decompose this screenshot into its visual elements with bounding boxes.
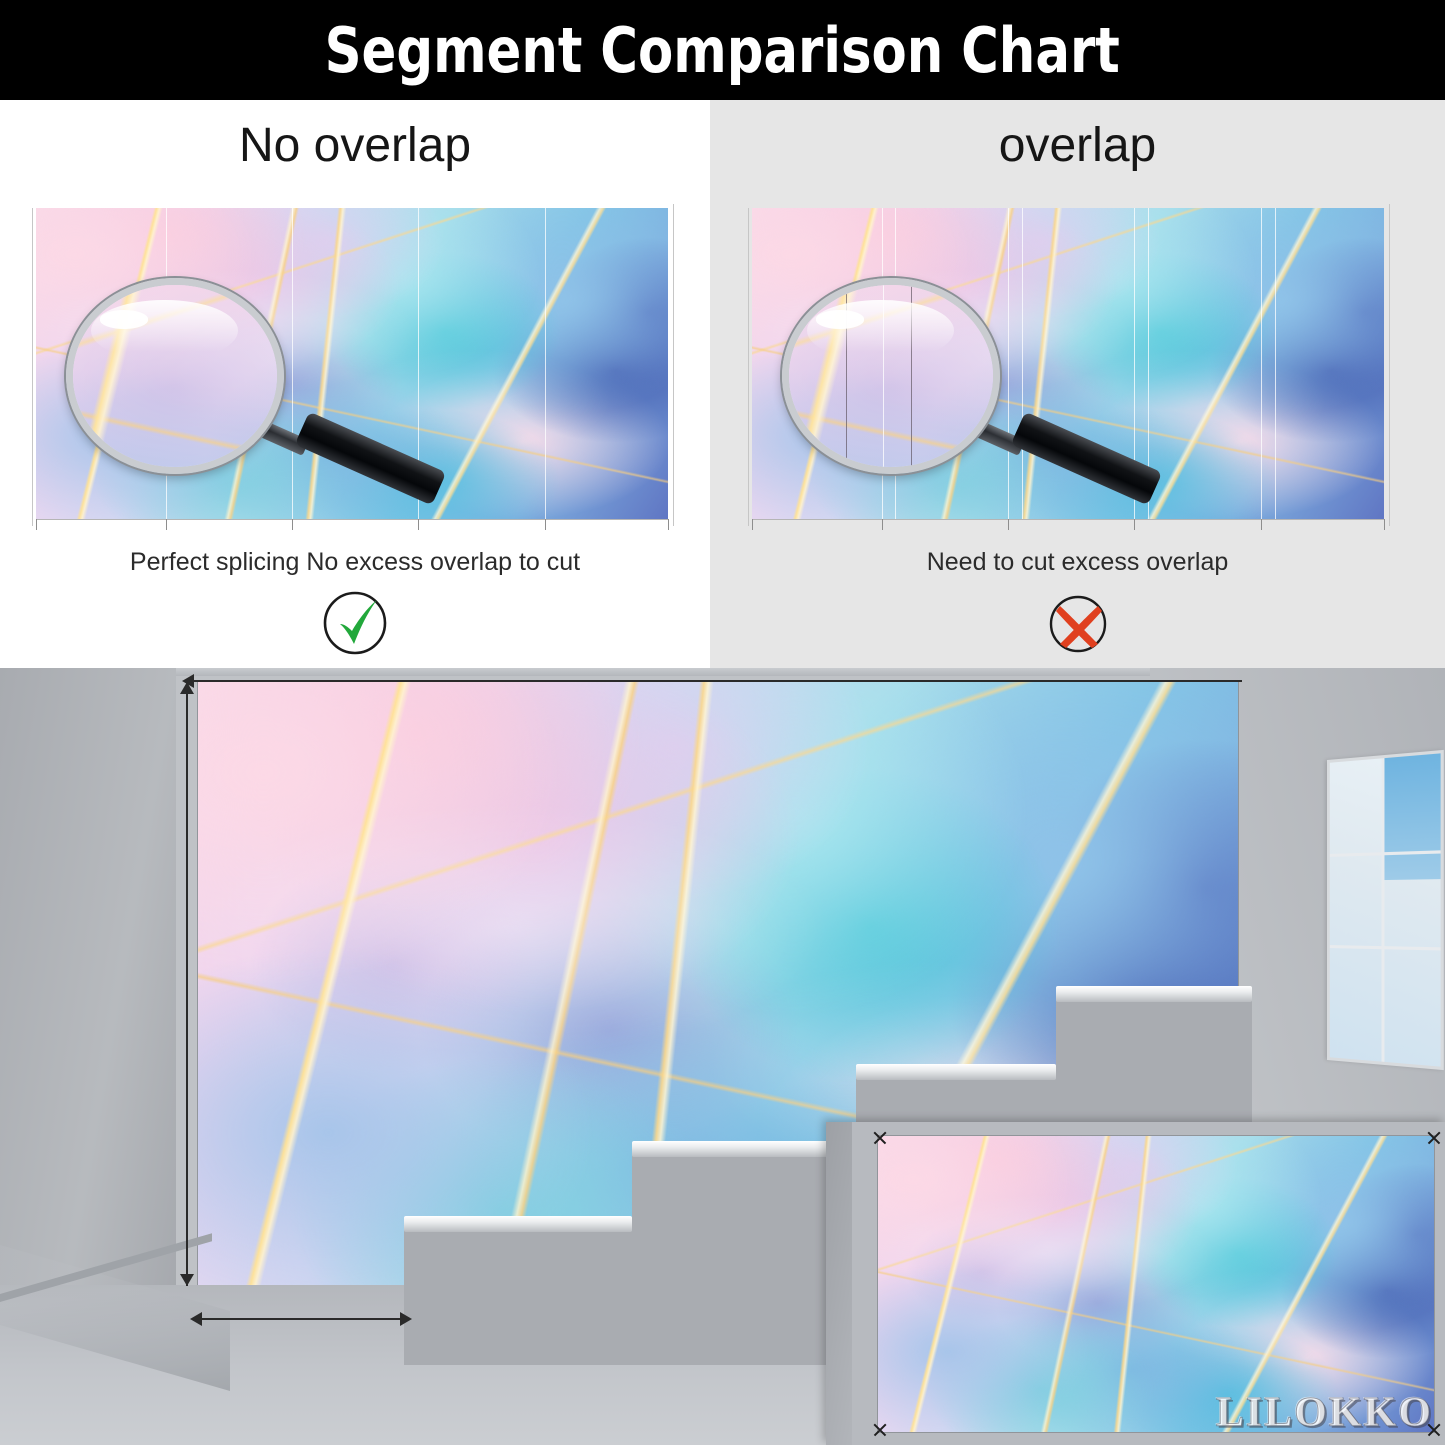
seam-line <box>1008 208 1009 520</box>
stair-step <box>404 1230 632 1365</box>
window-grid-icon <box>1327 750 1444 1070</box>
magnified-seam-line <box>911 285 912 467</box>
panel-overlap: overlap <box>710 100 1445 668</box>
red-cross-icon <box>1036 586 1120 658</box>
page-title: Segment Comparison Chart <box>325 14 1120 87</box>
inset-preview-panel: LILOKKO <box>826 1122 1445 1445</box>
room-scene: LILOKKO <box>0 668 1445 1445</box>
horizontal-dimension-arrow <box>192 1318 410 1320</box>
caption-no-overlap: Perfect splicing No excess overlap to cu… <box>0 548 710 577</box>
caption-overlap: Need to cut excess overlap <box>710 548 1445 577</box>
magnifier-lens <box>782 278 1000 474</box>
left-wall <box>0 668 176 1328</box>
top-dimension-arrow <box>186 680 1242 682</box>
seam-line-overlap <box>1275 208 1276 520</box>
corner-marker <box>1426 1130 1442 1146</box>
magnifying-glass-icon <box>66 278 284 474</box>
magnifier-gloss-highlight <box>816 310 865 328</box>
inset-mural <box>878 1136 1434 1432</box>
magnified-artwork <box>782 278 1000 474</box>
marble-highlight-veil <box>878 1136 1434 1432</box>
window-mullion-horizontal <box>1330 945 1441 950</box>
stair-step <box>632 1155 856 1365</box>
dimension-arrowhead-left <box>182 674 194 688</box>
magnified-artwork <box>66 278 284 474</box>
corner-marker <box>872 1422 888 1438</box>
stair-nosing <box>404 1216 632 1232</box>
corner-marker <box>872 1130 888 1146</box>
seam-line <box>292 208 293 520</box>
stair-nosing <box>632 1141 856 1157</box>
magnifying-glass-icon <box>782 278 1000 474</box>
stair-nosing <box>1056 986 1252 1002</box>
green-check-icon <box>313 586 397 658</box>
verdict-wrap-no-overlap <box>0 586 710 658</box>
inset-left-wall <box>826 1122 852 1445</box>
stair-nosing <box>856 1064 1056 1080</box>
seam-line <box>545 208 546 520</box>
dimension-arrowhead-down <box>180 1274 194 1286</box>
window-sky-pane <box>1381 753 1440 879</box>
magnified-seam-line <box>883 285 884 467</box>
seam-line-overlap <box>1022 208 1023 520</box>
title-bar: Segment Comparison Chart <box>0 0 1445 100</box>
verdict-wrap-overlap <box>710 586 1445 658</box>
dimension-arrowhead-right <box>400 1312 412 1326</box>
panel-heading-overlap: overlap <box>710 118 1445 173</box>
vertical-dimension-arrow <box>186 686 188 1286</box>
comparison-section: No overlap <box>0 100 1445 668</box>
magnifier-gloss-highlight <box>100 310 149 328</box>
panel-heading-no-overlap: No overlap <box>0 118 710 173</box>
marble-artwork <box>878 1136 1434 1432</box>
dimension-arrowhead-left <box>190 1312 202 1326</box>
screenshot-root: Segment Comparison Chart No overlap <box>0 0 1445 1445</box>
window-mullion-vertical <box>1381 758 1384 1062</box>
panel-no-overlap: No overlap <box>0 100 710 668</box>
magnifier-lens <box>66 278 284 474</box>
corner-marker <box>1426 1422 1442 1438</box>
seam-line <box>1261 208 1262 520</box>
